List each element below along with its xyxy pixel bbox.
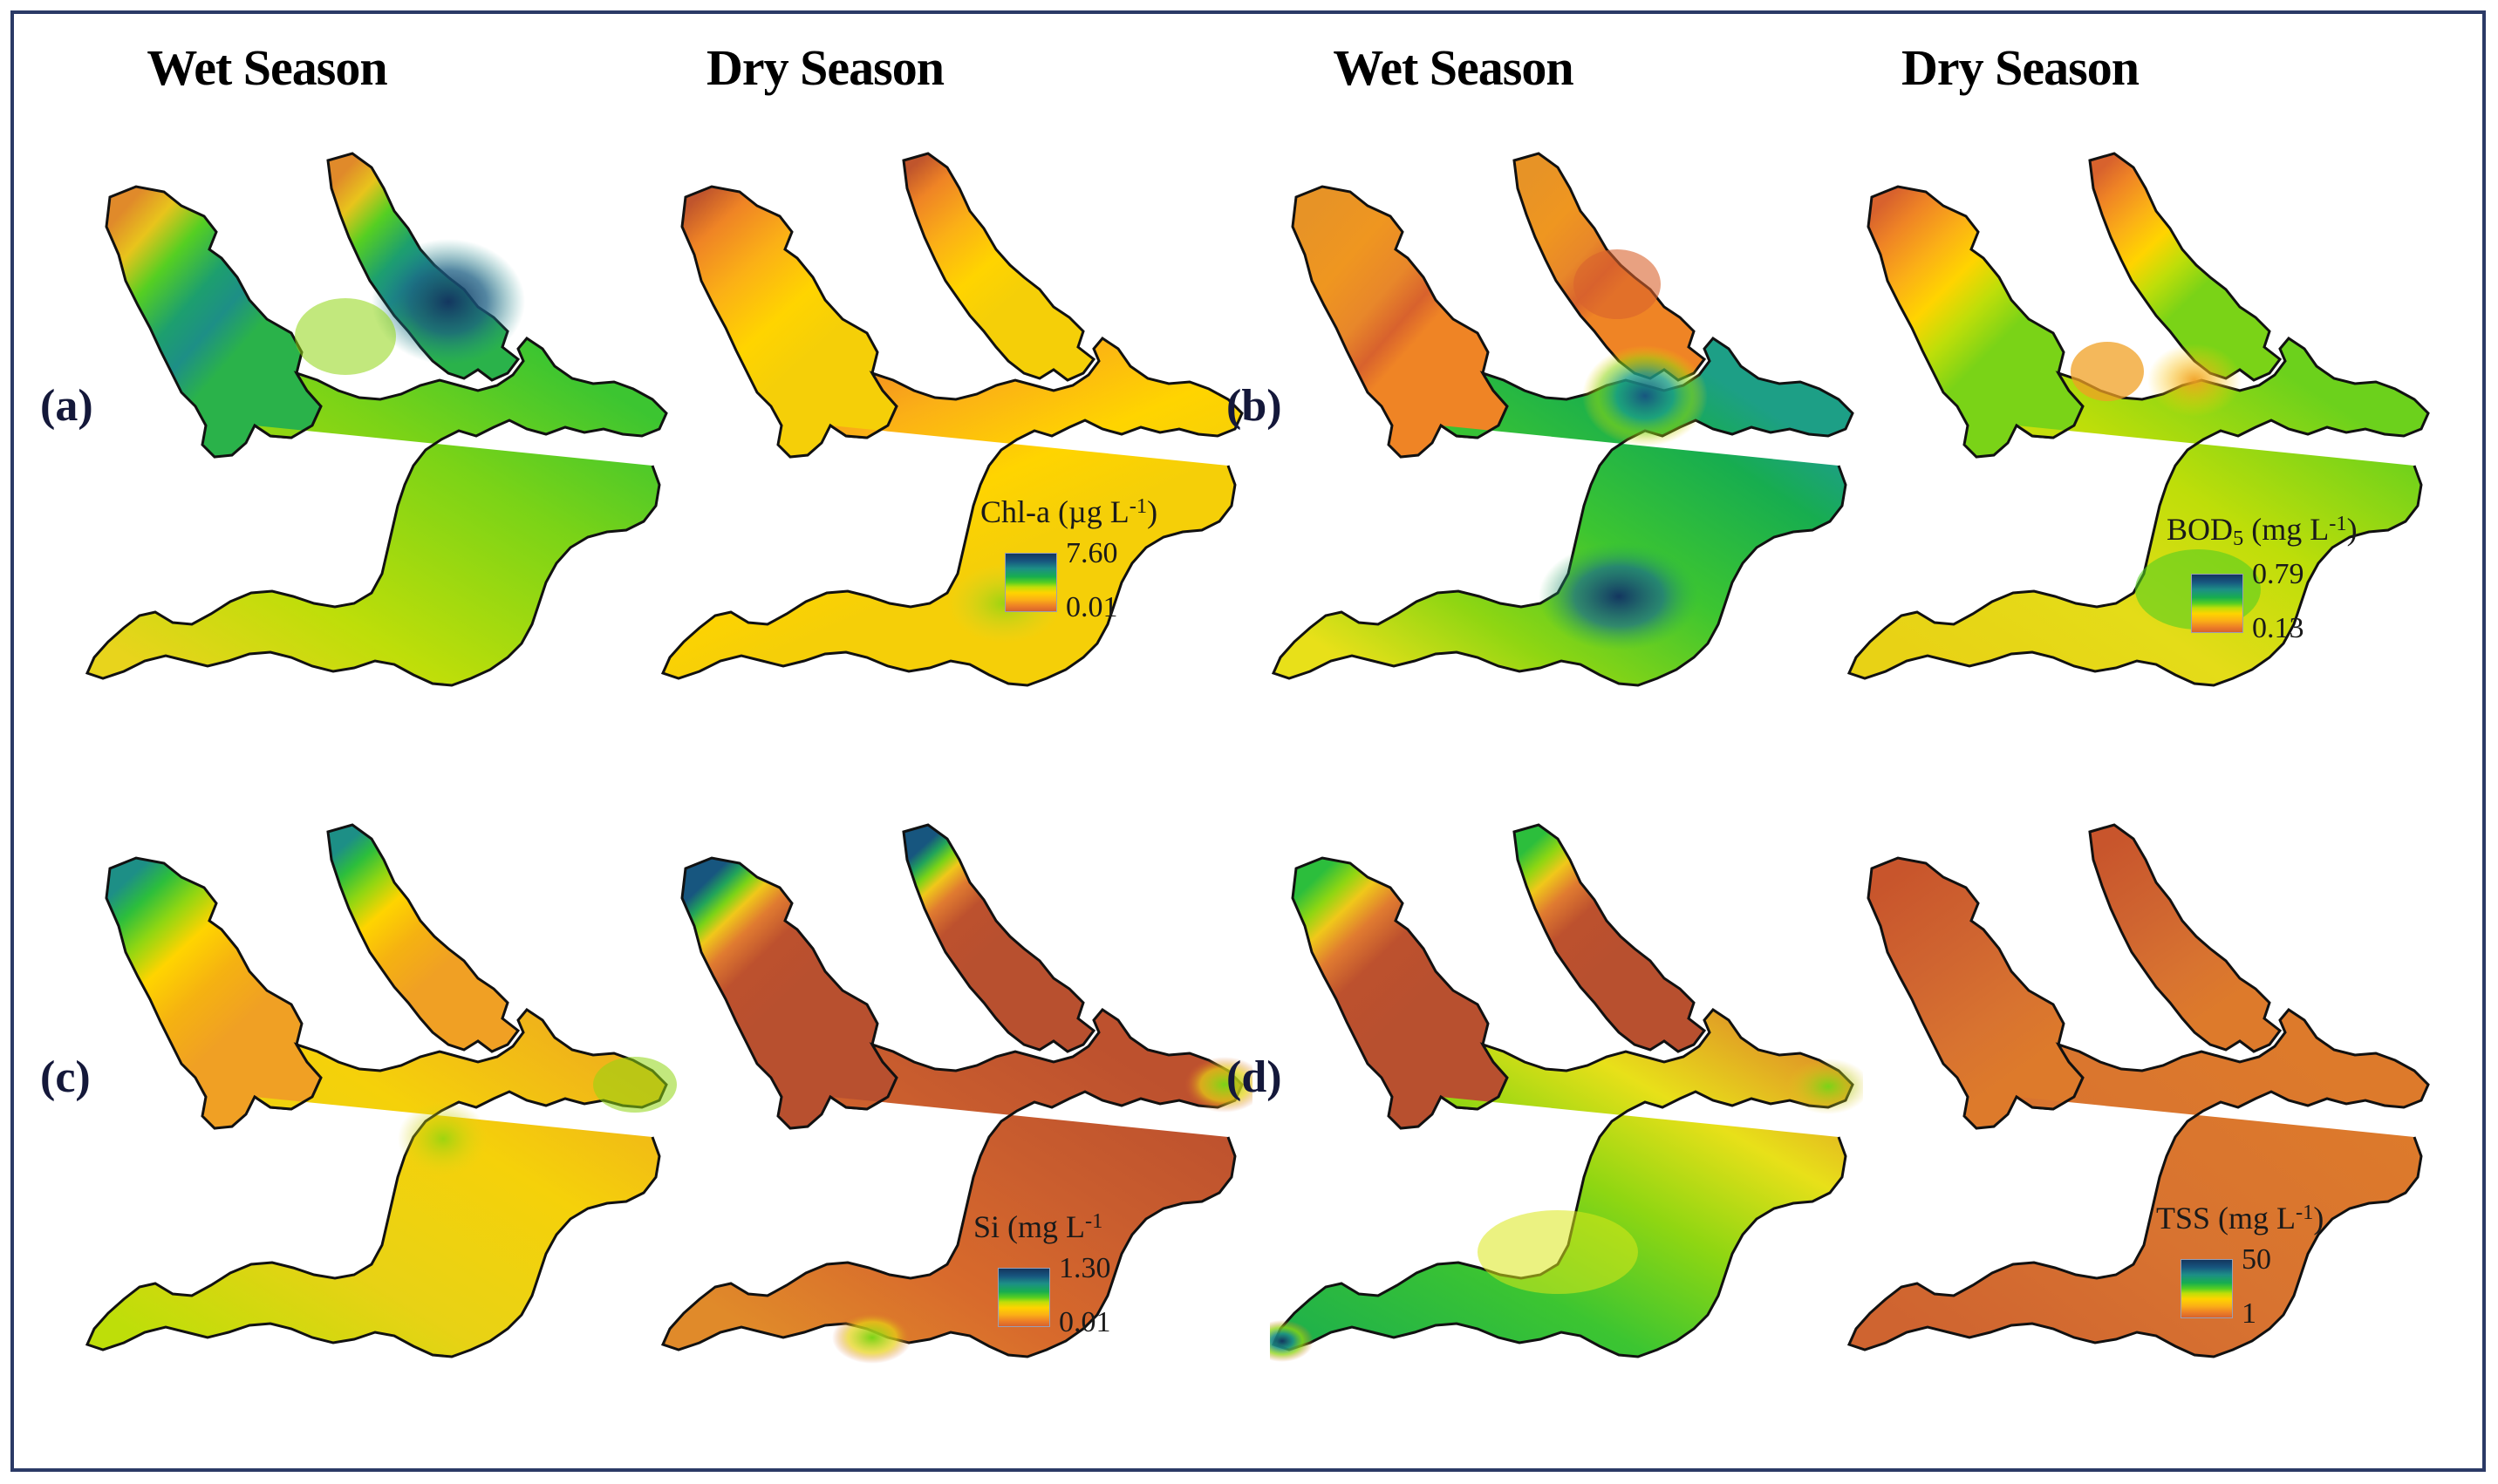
map-si-wet[interactable] — [84, 790, 677, 1453]
panel-b-wet-season: (b) — [1235, 119, 1860, 781]
figure-frame: Wet Season Dry Season Wet Season Dry Sea… — [10, 10, 2486, 1472]
legend-tss: TSS (mg L-1) 50 1 — [2156, 1200, 2324, 1334]
legend-title-tss: TSS (mg L-1) — [2156, 1200, 2324, 1236]
panel-d-wet-season: (d) — [1235, 790, 1860, 1453]
panel-c-dry-season: Si (mg L-1 1.30 0.01 — [624, 790, 1249, 1453]
column-header-wet-1: Wet Season — [66, 38, 468, 97]
legend-min-chla: 0.01 — [1066, 591, 1118, 624]
legend-max-si: 1.30 — [1059, 1252, 1111, 1285]
map-chla-wet[interactable] — [84, 119, 677, 781]
legend-min-bod5: 0.13 — [2252, 612, 2304, 645]
legend-chla: Chl-a (µg L-1) 7.60 0.01 — [980, 494, 1157, 628]
legend-min-si: 0.01 — [1059, 1306, 1111, 1339]
column-header-wet-2: Wet Season — [1252, 38, 1654, 97]
legend-title-chla: Chl-a (µg L-1) — [980, 494, 1157, 530]
panel-c-wet-season: (c) — [49, 790, 673, 1453]
colorbar-chla — [1005, 553, 1057, 612]
panel-a-dry-season: Chl-a (µg L-1) 7.60 0.01 — [624, 119, 1249, 781]
panel-b-dry-season: BOD5 (mg L-1) 0.79 0.13 — [1811, 119, 2435, 781]
map-bod5-dry[interactable] — [1846, 119, 2439, 781]
panel-a-wet-season: (a) — [49, 119, 673, 781]
legend-max-bod5: 0.79 — [2252, 558, 2304, 591]
map-tss-wet[interactable] — [1270, 790, 1863, 1453]
map-si-dry[interactable] — [659, 790, 1252, 1453]
legend-max-chla: 7.60 — [1066, 537, 1118, 570]
colorbar-si — [998, 1268, 1050, 1327]
legend-title-bod5: BOD5 (mg L-1) — [2167, 511, 2358, 551]
legend-title-si: Si (mg L-1 — [973, 1208, 1102, 1245]
column-header-dry-2: Dry Season — [1819, 38, 2221, 97]
column-header-dry-1: Dry Season — [624, 38, 1026, 97]
map-chla-dry[interactable] — [659, 119, 1252, 781]
map-tss-dry[interactable] — [1846, 790, 2439, 1453]
legend-min-tss: 1 — [2242, 1297, 2256, 1331]
legend-si: Si (mg L-1 1.30 0.01 — [973, 1208, 1102, 1343]
panel-d-dry-season: TSS (mg L-1) 50 1 — [1811, 790, 2435, 1453]
map-bod5-wet[interactable] — [1270, 119, 1863, 781]
legend-bod5: BOD5 (mg L-1) 0.79 0.13 — [2167, 511, 2358, 649]
legend-max-tss: 50 — [2242, 1243, 2271, 1276]
colorbar-bod5 — [2191, 574, 2243, 633]
colorbar-tss — [2181, 1259, 2233, 1318]
